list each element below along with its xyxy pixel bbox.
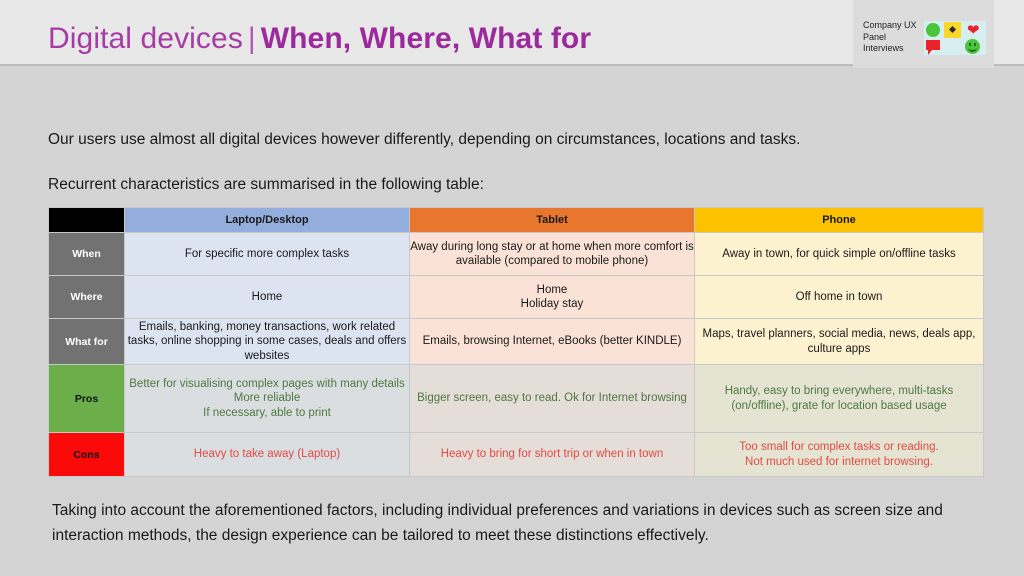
logo-line-1: Company UX (863, 20, 917, 32)
cell-where-tablet: HomeHoliday stay (410, 276, 695, 319)
table-row: Where Home HomeHoliday stay Off home in … (49, 276, 984, 319)
row-label-where: Where (49, 276, 125, 319)
column-header-tablet: Tablet (410, 208, 695, 233)
row-label-what-for: What for (49, 319, 125, 365)
cell-when-phone: Away in town, for quick simple on/offlin… (695, 233, 984, 276)
table-header-row: Laptop/Desktop Tablet Phone (49, 208, 984, 233)
page-title-primary: Digital devices (48, 22, 243, 55)
logo-marks: ❤ (924, 21, 986, 55)
row-label-pros: Pros (49, 365, 125, 433)
page-title-separator: | (243, 22, 261, 55)
cell-what-for-tablet: Emails, browsing Internet, eBooks (bette… (410, 319, 695, 365)
cell-when-tablet: Away during long stay or at home when mo… (410, 233, 695, 276)
cell-what-for-phone: Maps, travel planners, social media, new… (695, 319, 984, 365)
column-header-phone: Phone (695, 208, 984, 233)
cell-pros-tablet: Bigger screen, easy to read. Ok for Inte… (410, 365, 695, 433)
logo-text: Company UX Panel Interviews (863, 20, 917, 55)
yellow-square-diamond-icon (944, 22, 961, 38)
page-title-secondary: When, Where, What for (261, 22, 591, 55)
cell-when-laptop: For specific more complex tasks (125, 233, 410, 276)
cell-cons-phone: Too small for complex tasks or reading.N… (695, 433, 984, 477)
logo-line-2: Panel (863, 32, 917, 44)
table-row: Cons Heavy to take away (Laptop) Heavy t… (49, 433, 984, 477)
table-row: When For specific more complex tasks Awa… (49, 233, 984, 276)
column-header-laptop: Laptop/Desktop (125, 208, 410, 233)
logo-line-3: Interviews (863, 43, 917, 55)
red-heart-icon: ❤ (967, 24, 982, 38)
slide-header: Digital devices|When, Where, What for Co… (0, 0, 1024, 66)
cell-what-for-laptop: Emails, banking, money transactions, wor… (125, 319, 410, 365)
cell-pros-phone: Handy, easy to bring everywhere, multi-t… (695, 365, 984, 433)
table-row: Pros Better for visualising complex page… (49, 365, 984, 433)
conclusion-paragraph: Taking into account the aforementioned f… (52, 498, 972, 548)
green-circle-icon (926, 23, 940, 37)
row-label-cons: Cons (49, 433, 125, 477)
device-comparison-table: Laptop/Desktop Tablet Phone When For spe… (48, 207, 984, 477)
green-smiley-icon (965, 39, 980, 54)
row-label-when: When (49, 233, 125, 276)
company-logo: Company UX Panel Interviews ❤ (853, 0, 994, 68)
cell-cons-laptop: Heavy to take away (Laptop) (125, 433, 410, 477)
cell-pros-laptop: Better for visualising complex pages wit… (125, 365, 410, 433)
page-title: Digital devices|When, Where, What for (48, 22, 591, 56)
table-row: What for Emails, banking, money transact… (49, 319, 984, 365)
cell-where-laptop: Home (125, 276, 410, 319)
cell-cons-tablet: Heavy to bring for short trip or when in… (410, 433, 695, 477)
intro-paragraph-1: Our users use almost all digital devices… (48, 130, 800, 150)
cell-where-phone: Off home in town (695, 276, 984, 319)
intro-paragraph-2: Recurrent characteristics are summarised… (48, 175, 484, 195)
table-corner-cell (49, 208, 125, 233)
red-speech-bubble-icon (926, 40, 940, 50)
